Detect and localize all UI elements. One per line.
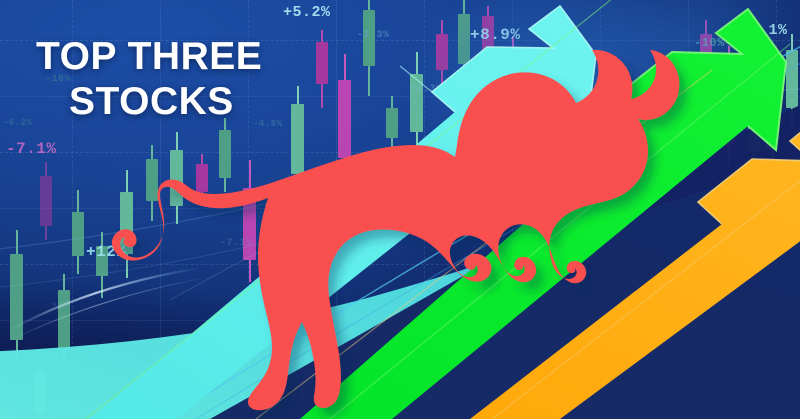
candlestick-body [196, 164, 208, 192]
percent-label: -10% [694, 36, 725, 50]
candlestick-body [363, 10, 375, 66]
candlestick [620, 140, 631, 190]
candlestick [576, 40, 587, 96]
candlestick-body [338, 80, 351, 158]
candlestick [243, 160, 256, 282]
candlestick [748, 112, 760, 168]
gridline-horizontal [0, 264, 800, 265]
candlestick-body [146, 159, 158, 201]
candlestick-body [458, 14, 470, 64]
candlestick [652, 110, 663, 170]
candlestick-wick [126, 170, 128, 278]
candlestick-wick [224, 118, 226, 192]
percent-label: +4.3% [410, 84, 443, 95]
candlestick-wick [321, 30, 323, 108]
candlestick-body [243, 188, 256, 260]
stock-banner: +5.2%+8.9%+7.1%-10%-7.1%+12%-2.3%+4.3%+2… [0, 0, 800, 419]
candlestick-wick [273, 214, 275, 284]
candlestick-body [722, 68, 736, 146]
percent-label: +6.5% [478, 115, 508, 125]
candlestick [196, 154, 208, 204]
candlestick-wick [344, 54, 346, 182]
candlestick-wick [728, 46, 730, 166]
candlestick [410, 52, 423, 158]
candlestick [338, 54, 351, 182]
candlestick-wick [77, 190, 79, 274]
candlestick-body [72, 212, 84, 256]
candlestick-wick [63, 274, 65, 364]
candlestick [700, 20, 712, 94]
candlestick-wick [512, 36, 514, 146]
candlestick-body [10, 254, 23, 340]
gridline-vertical [688, 0, 689, 419]
gridline-horizontal [0, 376, 800, 377]
candlestick-wick [791, 34, 793, 128]
candlestick-wick [416, 52, 418, 158]
gridline-horizontal [0, 320, 800, 321]
candlestick-body [748, 124, 760, 152]
candlestick-wick [772, 74, 774, 174]
candlestick-body [40, 176, 52, 226]
percent-label: -7.1% [6, 140, 57, 158]
candlestick-wick [705, 20, 707, 94]
percent-label: +8.9% [470, 26, 521, 44]
candlestick-body [291, 104, 304, 174]
candlestick-body [482, 16, 494, 52]
candlestick-wick [581, 40, 583, 96]
candlestick-body [120, 192, 133, 254]
candlestick-wick [463, 0, 465, 88]
candlestick-body [219, 130, 231, 178]
percent-label: +12% [86, 243, 126, 261]
candlestick-body [766, 94, 779, 150]
gridline-vertical [600, 0, 601, 419]
candlestick-wick [753, 112, 755, 168]
candlestick-body [268, 228, 280, 260]
candlestick [219, 118, 231, 192]
candlestick-wick [249, 160, 251, 282]
gridline-horizontal [0, 152, 800, 153]
percent-label: -6.2% [3, 118, 33, 128]
gridline-vertical [336, 0, 337, 419]
candlestick-body [576, 50, 587, 80]
candlestick-body [410, 74, 423, 132]
candlestick-wick [625, 140, 627, 190]
candlestick-body [170, 150, 183, 206]
candlestick-wick [441, 20, 443, 90]
candlestick [291, 86, 304, 194]
title-line-2: STOCKS [36, 79, 262, 124]
candlestick [786, 34, 798, 128]
candlestick-body [96, 246, 108, 276]
candlestick-wick [535, 118, 537, 192]
candlestick-body [530, 134, 542, 170]
candlestick-body [620, 150, 631, 174]
candlestick-wick [16, 230, 18, 360]
candlestick [170, 132, 183, 224]
candlestick-wick [101, 232, 103, 298]
candlestick-body [506, 58, 519, 122]
candlestick [482, 6, 494, 72]
candlestick-wick [368, 0, 370, 96]
page-title: TOP THREE STOCKS [36, 34, 262, 124]
title-line-1: TOP THREE [36, 34, 262, 79]
candlestick-body [786, 50, 798, 108]
candlestick [96, 232, 108, 298]
candlestick [386, 96, 398, 156]
candlestick [40, 162, 52, 240]
percent-label: +2.1% [580, 66, 610, 76]
candlestick [146, 145, 158, 221]
candlestick [72, 190, 84, 274]
candlestick-wick [201, 154, 203, 204]
candlestick-body [700, 34, 712, 72]
percent-label: +7.1% [740, 22, 788, 39]
candlestick-wick [657, 110, 659, 170]
candlestick [722, 46, 736, 166]
gridline-vertical [512, 0, 513, 419]
candlestick-wick [176, 132, 178, 224]
candlestick-wick [487, 6, 489, 72]
candlestick [766, 74, 779, 174]
candlestick [316, 30, 328, 108]
candlestick-wick [151, 145, 153, 221]
candlestick-body [316, 42, 328, 84]
candlestick [530, 118, 542, 192]
candlestick [268, 214, 280, 284]
candlestick-wick [297, 86, 299, 194]
candlestick-wick [391, 96, 393, 156]
candlestick [34, 362, 46, 419]
orange-arrow [230, 70, 800, 419]
candlestick-body [34, 372, 46, 412]
candlestick-wick [39, 362, 41, 419]
candlestick-body [58, 290, 70, 350]
candlestick [363, 0, 375, 96]
candlestick-body [386, 108, 398, 138]
candlestick [436, 20, 448, 90]
candlestick [120, 170, 133, 278]
candlestick [58, 274, 70, 364]
percent-label: +5.2% [283, 4, 331, 21]
candlestick-body [652, 122, 663, 152]
percent-label: -9% [760, 213, 778, 223]
percent-label: +3.2% [595, 174, 625, 184]
gridline-vertical [424, 0, 425, 419]
percent-label: +2% [52, 300, 70, 310]
candlestick-body [436, 34, 448, 70]
candlestick-wick [45, 162, 47, 240]
candlestick [10, 230, 23, 360]
gridline-vertical [776, 0, 777, 419]
candlestick [506, 36, 519, 146]
candlestick [458, 0, 470, 88]
percent-label: -8.9% [464, 196, 497, 207]
percent-label: -7.1% [220, 238, 253, 249]
percent-label: -2.3% [357, 30, 390, 41]
gridline-horizontal [0, 208, 800, 209]
